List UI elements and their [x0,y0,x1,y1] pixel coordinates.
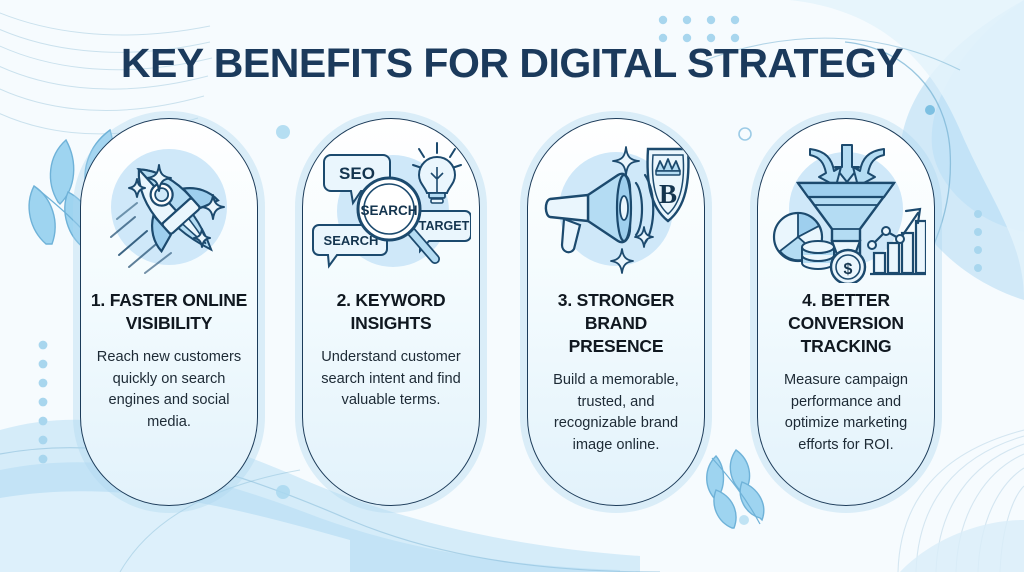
dollar-coin: $ [831,250,865,283]
svg-text:TARGET: TARGET [419,219,470,233]
megaphone-shield-icon: B [536,133,696,283]
benefit-card-2-title: 2. KEYWORD INSIGHTS [303,289,479,335]
benefit-card-2[interactable]: SEO SEARCH TARGET SEARC [302,118,480,506]
svg-text:B: B [659,179,677,209]
benefit-card-1[interactable]: 1. FASTER ONLINE VISIBILITY Reach new cu… [80,118,258,506]
coin-stack [802,241,834,269]
svg-text:SEARCH: SEARCH [360,203,417,218]
benefit-card-3-description: Build a memorable, trusted, and recogniz… [528,370,704,456]
magnifier-seo-icon: SEO SEARCH TARGET SEARC [311,133,471,283]
benefit-cards-container: 1. FASTER ONLINE VISIBILITY Reach new cu… [0,118,1024,518]
page-title: KEY BENEFITS FOR DIGITAL STRATEGY [0,40,1024,87]
rocket-icon [89,133,249,283]
benefit-card-2-description: Understand customer search intent and fi… [303,347,479,412]
benefit-card-4-description: Measure campaign performance and optimiz… [758,370,934,456]
benefit-card-4-title: 4. BETTER CONVERSION TRACKING [758,289,934,358]
svg-text:SEO: SEO [339,164,375,183]
funnel-analytics-icon: $ [766,133,926,283]
benefit-card-1-title: 1. FASTER ONLINE VISIBILITY [81,289,257,335]
benefit-card-3[interactable]: B [527,118,705,506]
dot-decoration [925,105,935,115]
benefit-card-4[interactable]: $ [757,118,935,506]
benefit-card-3-title: 3. STRONGER BRAND PRESENCE [528,289,704,358]
benefit-card-1-description: Reach new customers quickly on search en… [81,347,257,433]
svg-text:$: $ [844,261,853,278]
